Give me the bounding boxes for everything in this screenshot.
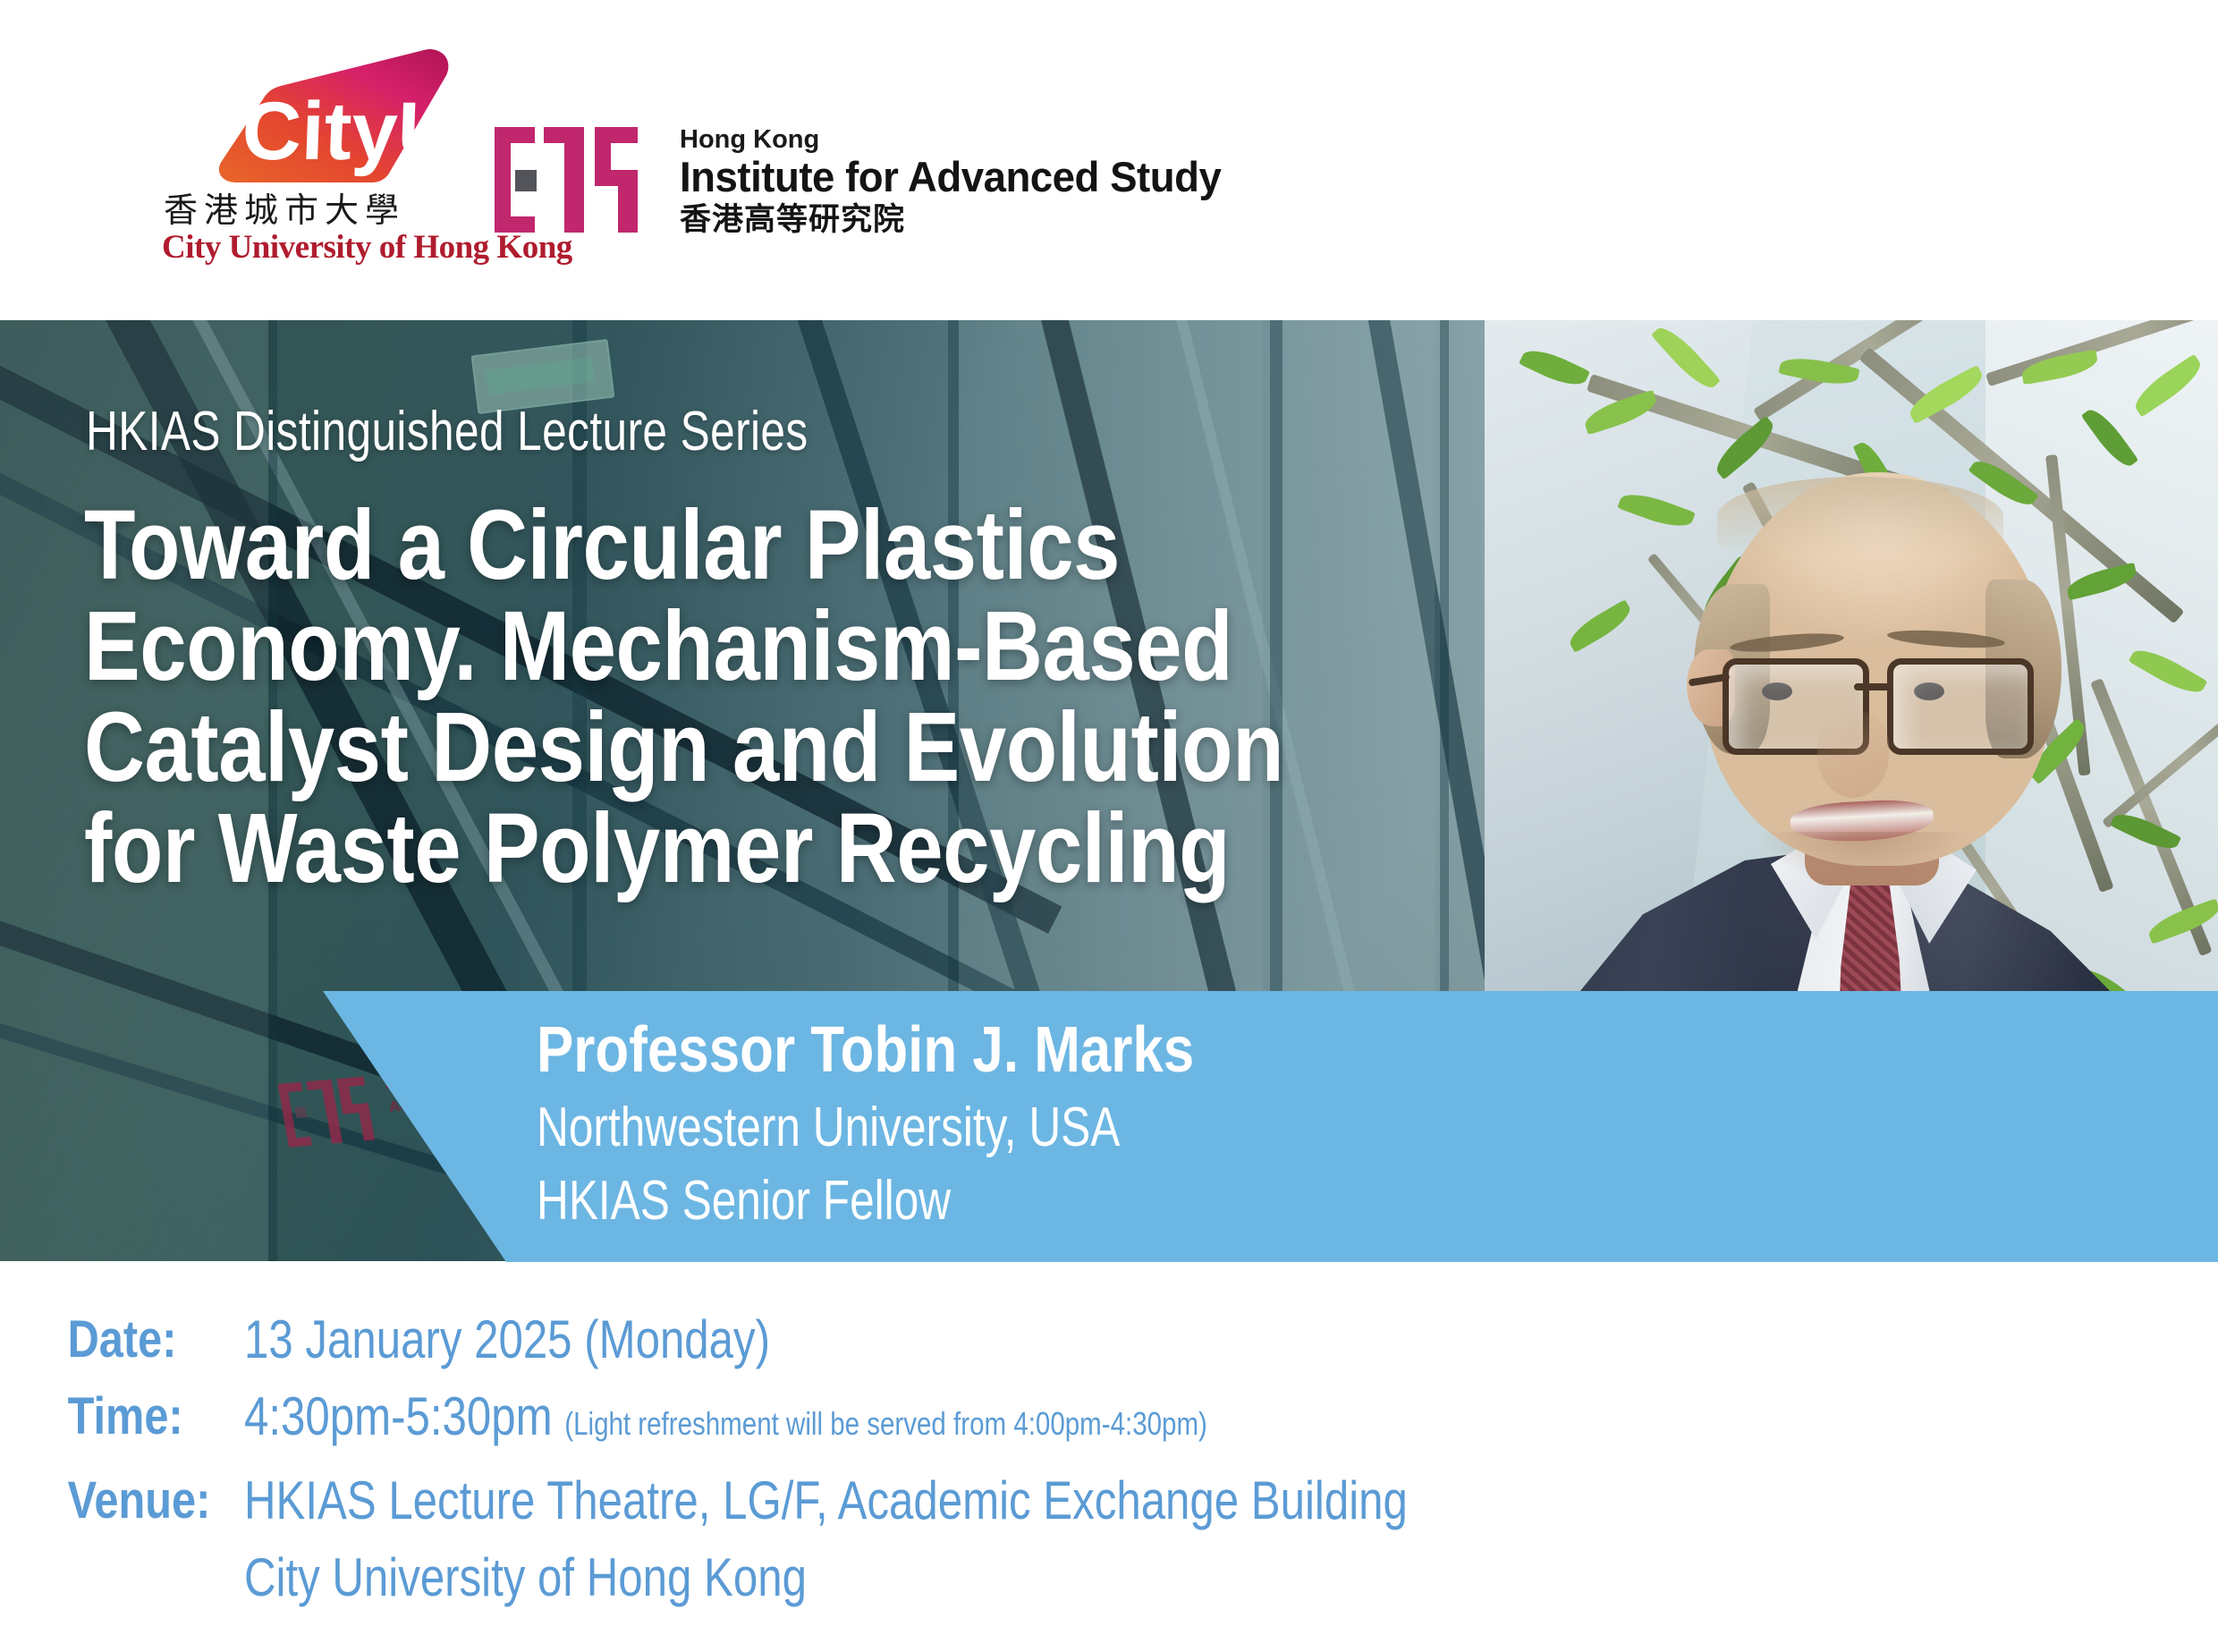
hair-top <box>1717 477 2003 557</box>
date-value: 13 January 2025 (Monday) <box>244 1301 770 1378</box>
date-label: Date: <box>0 1301 205 1378</box>
detail-row-time: Time: 4:30pm-5:30pm (Light refreshment w… <box>0 1378 2218 1462</box>
hkias-line-chinese: 香港高等研究院 <box>680 200 1238 240</box>
time-label: Time: <box>0 1378 205 1455</box>
venue-value-line2: City University of Hong Kong <box>244 1539 807 1616</box>
time-value: 4:30pm-5:30pm <box>244 1386 553 1446</box>
hkias-mark-icon <box>495 127 651 233</box>
hkias-line-institute: Institute for Advanced Study <box>680 154 1221 200</box>
speaker-role: HKIAS Senior Fellow <box>537 1165 1148 1238</box>
lens-right <box>1887 658 2034 755</box>
title-line-1: Toward a Circular Plastics <box>84 495 1400 596</box>
cityu-swoosh-icon: CityU <box>211 47 453 182</box>
hkias-mark-icon <box>277 1076 383 1148</box>
cityu-chinese-name: 香港城市大學 <box>164 182 405 232</box>
hkias-logo: Hong Kong Institute for Advanced Study 香… <box>495 125 1183 241</box>
page-title: Toward a Circular Plastics Economy. Mech… <box>84 495 1622 899</box>
title-line-2: Economy. Mechanism-Based <box>84 596 1400 697</box>
speaker-name: Professor Tobin J. Marks <box>537 1009 1194 1091</box>
logo-bar: CityU 香港城市大學 City University of Hong Kon… <box>0 0 2218 320</box>
detail-row-date: Date: 13 January 2025 (Monday) <box>0 1301 2218 1378</box>
lecture-poster: Institute for Advanced Stud <box>0 0 2218 1652</box>
venue-label: Venue: <box>0 1462 205 1539</box>
venue-value-line1: HKIAS Lecture Theatre, LG/F, Academic Ex… <box>244 1462 1408 1539</box>
detail-row-venue-cont: City University of Hong Kong <box>0 1539 2218 1616</box>
speaker-affiliation: Northwestern University, USA <box>537 1091 1148 1165</box>
chin-shadow <box>1762 832 1968 884</box>
event-details: Date: 13 January 2025 (Monday) Time: 4:3… <box>0 1301 2218 1616</box>
nose <box>1817 712 1889 798</box>
cityu-logo: CityU 香港城市大學 City University of Hong Kon… <box>79 47 454 270</box>
speaker-info: Professor Tobin J. Marks Northwestern Un… <box>537 1009 1301 1238</box>
glasses-bridge <box>1854 683 1893 690</box>
hkias-wordmark: Hong Kong Institute for Advanced Study 香… <box>680 125 1238 240</box>
title-line-3: Catalyst Design and Evolution <box>84 697 1400 798</box>
time-value-wrap: 4:30pm-5:30pm (Light refreshment will be… <box>244 1378 1207 1462</box>
detail-row-venue: Venue: HKIAS Lecture Theatre, LG/F, Acad… <box>0 1462 2218 1539</box>
title-line-4: for Waste Polymer Recycling <box>84 798 1400 899</box>
time-note: (Light refreshment will be served from 4… <box>564 1405 1207 1442</box>
hkias-line-hongkong: Hong Kong <box>680 125 1238 154</box>
lecture-series-label: HKIAS Distinguished Lecture Series <box>86 400 808 463</box>
